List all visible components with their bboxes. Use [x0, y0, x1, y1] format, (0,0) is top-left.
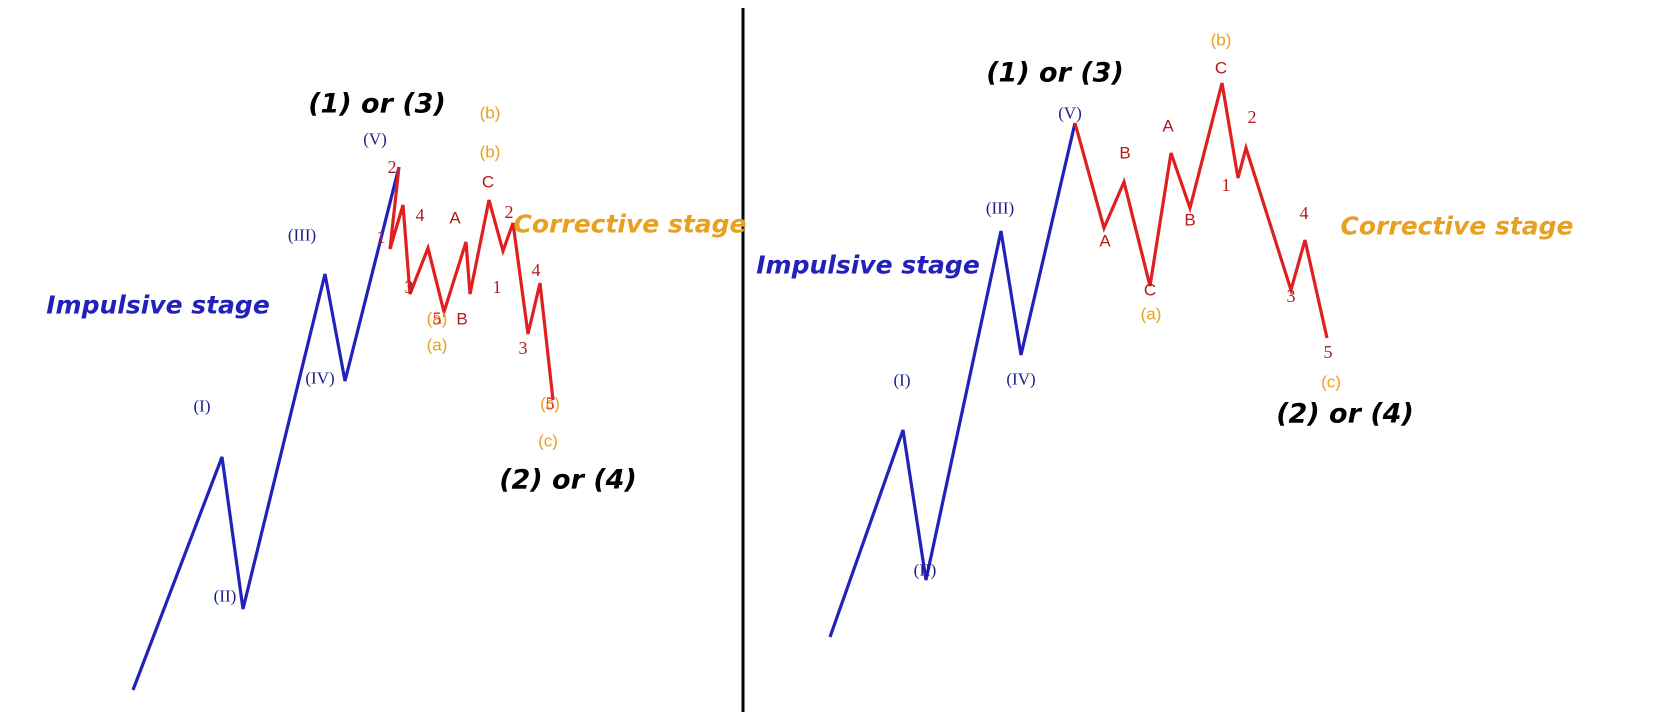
- left-corrective-wave-label-9: 3: [519, 339, 528, 357]
- right-corrective-wave-label-3: A: [1162, 118, 1173, 135]
- right-impulse-polyline: [830, 123, 1075, 637]
- left-orange-paren-label-0: (b): [480, 105, 501, 122]
- left-corrective-wave-label-6: C: [482, 174, 494, 191]
- left-impulse-degree-label-0: (I): [194, 398, 211, 415]
- right-orange-paren-label-0: (b): [1211, 32, 1232, 49]
- left-impulse-degree-label-2: (III): [288, 227, 316, 244]
- right-corrective-wave-label-9: 4: [1300, 204, 1309, 222]
- left-corrective-wave-label-8: 2: [505, 203, 514, 221]
- right-impulse-degree-label-4: (V): [1058, 105, 1082, 122]
- elliott-wave-diagram: (I)(II)(III)(IV)(V)1234ABC1234(b)(b)(a)(…: [0, 0, 1678, 720]
- red-wave-count-label: 5: [433, 309, 442, 330]
- left-wave-2-or-4-title: (2) or (4): [499, 467, 637, 494]
- left-corrective-wave-label-5: B: [456, 311, 467, 328]
- right-corrective-wave-label-7: 2: [1248, 108, 1257, 126]
- right-corrective-wave-label-5: C: [1215, 60, 1227, 77]
- right-corrective-wave-label-8: 3: [1287, 287, 1296, 305]
- left-impulse-degree-label-1: (II): [214, 588, 237, 605]
- right-corrective-wave-label-2: C: [1144, 282, 1156, 299]
- right-orange-paren-label-2: (c): [1321, 374, 1341, 391]
- right-corrective-wave-label-0: A: [1099, 233, 1110, 250]
- left-corrective-wave-label-4: A: [449, 210, 460, 227]
- left-corrective-polyline: [390, 167, 553, 400]
- right-wave-2-or-4-title: (2) or (4): [1276, 401, 1414, 428]
- left-wave-1-or-3-title: (1) or (3): [308, 91, 446, 118]
- right-impulse-degree-label-2: (III): [986, 200, 1014, 217]
- left-corrective-wave-label-7: 1: [493, 278, 502, 296]
- right-impulse-degree-label-3: (IV): [1006, 371, 1035, 388]
- wave-canvas: [0, 0, 1678, 720]
- left-orange-paren-label-3: (c): [538, 433, 558, 450]
- red-wave-count-label: 5: [546, 394, 555, 415]
- right-impulse-degree-label-1: (II): [914, 562, 937, 579]
- left-impulse-degree-label-4: (V): [363, 131, 387, 148]
- right-corrective-wave-label-6: 1: [1222, 176, 1231, 194]
- right-impulse-degree-label-0: (I): [894, 372, 911, 389]
- left-panel-paths: [133, 167, 553, 690]
- left-impulse-polyline: [133, 167, 399, 690]
- right-wave-1-or-3-title: (1) or (3): [986, 60, 1124, 87]
- left-impulsive-stage-title: Impulsive stage: [46, 293, 270, 318]
- left-corrective-wave-label-2: 3: [405, 278, 414, 296]
- left-corrective-wave-label-10: 4: [532, 261, 541, 279]
- left-corrective-stage-title: Corrective stage: [514, 212, 747, 237]
- left-orange-paren-label-1: (b): [480, 144, 501, 161]
- right-impulsive-stage-title: Impulsive stage: [756, 253, 980, 278]
- right-corrective-stage-title: Corrective stage: [1341, 214, 1574, 239]
- left-impulse-degree-label-3: (IV): [305, 370, 334, 387]
- right-orange-paren-label-1: (a): [1141, 306, 1162, 323]
- right-corrective-wave-label-10: 5: [1324, 343, 1333, 361]
- right-corrective-wave-label-4: B: [1184, 212, 1195, 229]
- left-corrective-wave-label-0: 1: [377, 228, 386, 246]
- left-corrective-wave-label-1: 2: [388, 158, 397, 176]
- left-corrective-wave-label-3: 4: [416, 206, 425, 224]
- left-orange-paren-label-2: (a): [427, 337, 448, 354]
- right-panel-paths: [830, 83, 1327, 637]
- right-corrective-wave-label-1: B: [1119, 145, 1130, 162]
